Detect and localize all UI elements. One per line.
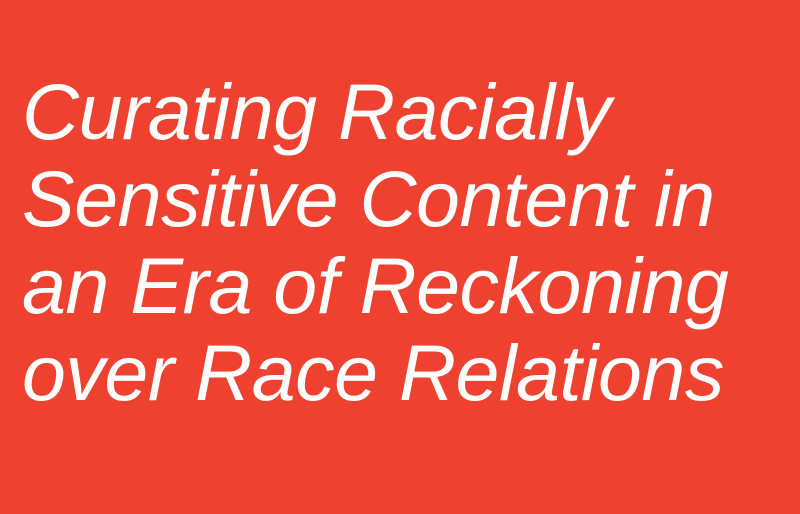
title-line-3: an Era of Reckoning — [22, 242, 762, 329]
title-line-1: Curating Racially — [22, 68, 762, 155]
title-card: Curating Racially Sensitive Content in a… — [0, 0, 800, 514]
title-line-2: Sensitive Content in — [22, 155, 762, 242]
title-line-4: over Race Relations — [22, 329, 762, 416]
page-title: Curating Racially Sensitive Content in a… — [22, 68, 762, 416]
